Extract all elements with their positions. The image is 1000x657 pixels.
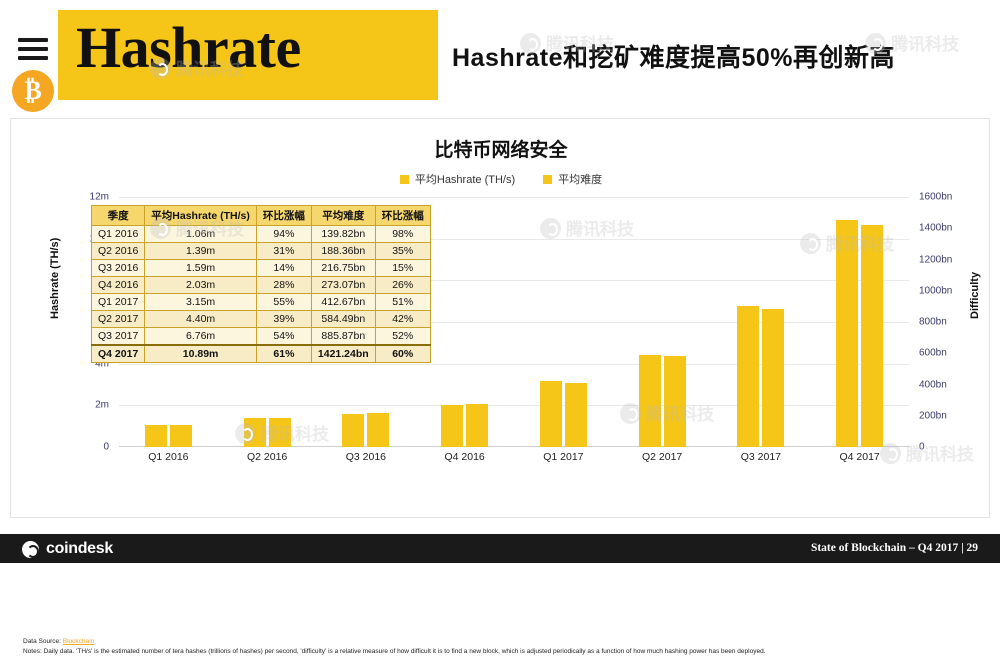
table-cell: 94% bbox=[256, 226, 311, 243]
bar-hashrate bbox=[342, 414, 364, 447]
bar-difficulty bbox=[565, 383, 587, 447]
table-cell: 1421.24bn bbox=[311, 345, 375, 363]
chart-legend: 平均Hashrate (TH/s) 平均难度 bbox=[11, 171, 991, 187]
coindesk-mark-icon bbox=[22, 541, 39, 558]
table-row: Q3 20176.76m54%885.87bn52% bbox=[92, 328, 431, 346]
x-axis-tick: Q2 2017 bbox=[613, 451, 712, 463]
bar-group bbox=[514, 197, 613, 447]
table-cell: 412.67bn bbox=[311, 294, 375, 311]
y-axis-right-tick: 800bn bbox=[919, 317, 947, 328]
table-row: Q4 201710.89m61%1421.24bn60% bbox=[92, 345, 431, 363]
footer-meta: State of Blockchain – Q4 2017 | 29 bbox=[811, 542, 978, 554]
table-row: Q2 20174.40m39%584.49bn42% bbox=[92, 311, 431, 328]
table-cell: 188.36bn bbox=[311, 243, 375, 260]
table-cell: 1.39m bbox=[145, 243, 257, 260]
table-row: Q1 20173.15m55%412.67bn51% bbox=[92, 294, 431, 311]
table-cell: 584.49bn bbox=[311, 311, 375, 328]
table-cell: 4.40m bbox=[145, 311, 257, 328]
data-source-link[interactable]: Blockchain bbox=[63, 638, 94, 645]
table-header-row: 季度 平均Hashrate (TH/s) 环比涨幅 平均难度 环比涨幅 bbox=[92, 206, 431, 226]
table-row: Q2 20161.39m31%188.36bn35% bbox=[92, 243, 431, 260]
bar-difficulty bbox=[170, 425, 192, 447]
bar-difficulty bbox=[762, 309, 784, 447]
y-axis-right-tick: 1000bn bbox=[919, 285, 952, 296]
x-axis-tick: Q4 2016 bbox=[415, 451, 514, 463]
table-body: Q1 20161.06m94%139.82bn98%Q2 20161.39m31… bbox=[92, 226, 431, 363]
table-cell: 15% bbox=[375, 260, 430, 277]
slide-body: 比特币网络安全 平均Hashrate (TH/s) 平均难度 Hashrate … bbox=[10, 118, 990, 518]
hamburger-icon[interactable] bbox=[18, 38, 48, 60]
bar-group bbox=[810, 197, 909, 447]
x-axis-tick: Q4 2017 bbox=[810, 451, 909, 463]
table-col-hashrate-growth: 环比涨幅 bbox=[256, 206, 311, 226]
table-cell: 60% bbox=[375, 345, 430, 363]
table-cell: 39% bbox=[256, 311, 311, 328]
table-cell: 54% bbox=[256, 328, 311, 346]
table-cell: 35% bbox=[375, 243, 430, 260]
table-col-difficulty: 平均难度 bbox=[311, 206, 375, 226]
table-row: Q3 20161.59m14%216.75bn15% bbox=[92, 260, 431, 277]
y-axis-left-tick: 2m bbox=[95, 400, 109, 411]
legend-item-difficulty: 平均难度 bbox=[543, 171, 602, 187]
table-row: Q4 20162.03m28%273.07bn26% bbox=[92, 277, 431, 294]
table-cell: 2.03m bbox=[145, 277, 257, 294]
y-axis-left-title: Hashrate (TH/s) bbox=[49, 238, 61, 319]
summary-table: 季度 平均Hashrate (TH/s) 环比涨幅 平均难度 环比涨幅 Q1 2… bbox=[91, 205, 431, 363]
page-title: Hashrate bbox=[76, 14, 301, 81]
bar-hashrate bbox=[639, 355, 661, 447]
table-cell: 28% bbox=[256, 277, 311, 294]
y-axis-left-tick: 0 bbox=[103, 442, 109, 453]
data-source-line: Data Source: Blockchain bbox=[23, 637, 999, 647]
table-cell: Q3 2017 bbox=[92, 328, 145, 346]
bar-difficulty bbox=[367, 413, 389, 447]
y-axis-right-tick: 1200bn bbox=[919, 254, 952, 265]
slide-header: ₿ Hashrate Hashrate和挖矿难度提高50%再创新高 bbox=[0, 0, 1000, 112]
table-col-hashrate: 平均Hashrate (TH/s) bbox=[145, 206, 257, 226]
bar-hashrate bbox=[441, 405, 463, 447]
y-axis-right-tick: 1400bn bbox=[919, 223, 952, 234]
bar-hashrate bbox=[540, 381, 562, 447]
table-cell: 1.59m bbox=[145, 260, 257, 277]
bar-difficulty bbox=[861, 225, 883, 447]
page-subtitle: Hashrate和挖矿难度提高50%再创新高 bbox=[452, 38, 895, 74]
table-cell: 52% bbox=[375, 328, 430, 346]
legend-swatch-hashrate bbox=[400, 175, 409, 184]
y-axis-right-tick: 0 bbox=[919, 442, 925, 453]
bar-hashrate bbox=[244, 418, 266, 447]
legend-label-difficulty: 平均难度 bbox=[558, 171, 602, 187]
chart-footnotes: Data Source: Blockchain Notes: Daily dat… bbox=[23, 637, 999, 657]
table-cell: 273.07bn bbox=[311, 277, 375, 294]
slide-footer: coindesk State of Blockchain – Q4 2017 |… bbox=[0, 534, 1000, 563]
table-cell: 61% bbox=[256, 345, 311, 363]
table-cell: 55% bbox=[256, 294, 311, 311]
bar-hashrate bbox=[836, 220, 858, 447]
bar-hashrate bbox=[737, 306, 759, 447]
x-axis-tick: Q2 2016 bbox=[218, 451, 317, 463]
x-axis-tick: Q3 2017 bbox=[712, 451, 811, 463]
table-cell: 98% bbox=[375, 226, 430, 243]
table-cell: 31% bbox=[256, 243, 311, 260]
table-cell: Q2 2017 bbox=[92, 311, 145, 328]
table-cell: 1.06m bbox=[145, 226, 257, 243]
table-cell: 216.75bn bbox=[311, 260, 375, 277]
table-cell: 6.76m bbox=[145, 328, 257, 346]
table-cell: 10.89m bbox=[145, 345, 257, 363]
bar-difficulty bbox=[269, 418, 291, 447]
chart-title: 比特币网络安全 bbox=[11, 135, 991, 162]
table-cell: 139.82bn bbox=[311, 226, 375, 243]
y-axis-right-tick: 600bn bbox=[919, 348, 947, 359]
bar-group bbox=[712, 197, 811, 447]
table-row: Q1 20161.06m94%139.82bn98% bbox=[92, 226, 431, 243]
y-axis-left-tick: 12m bbox=[90, 192, 109, 203]
table-cell: 885.87bn bbox=[311, 328, 375, 346]
bar-group bbox=[613, 197, 712, 447]
table-cell: 51% bbox=[375, 294, 430, 311]
legend-swatch-difficulty bbox=[543, 175, 552, 184]
table-cell: Q4 2016 bbox=[92, 277, 145, 294]
y-axis-right-tick: 200bn bbox=[919, 410, 947, 421]
x-axis-tick: Q3 2016 bbox=[317, 451, 416, 463]
table-col-quarter: 季度 bbox=[92, 206, 145, 226]
bar-difficulty bbox=[664, 356, 686, 447]
table-cell: Q1 2016 bbox=[92, 226, 145, 243]
legend-label-hashrate: 平均Hashrate (TH/s) bbox=[415, 171, 515, 187]
table-cell: 14% bbox=[256, 260, 311, 277]
y-axis-right-title: Difficulty bbox=[969, 272, 981, 319]
data-source-label: Data Source: bbox=[23, 638, 61, 645]
table-cell: 3.15m bbox=[145, 294, 257, 311]
table-cell: Q2 2016 bbox=[92, 243, 145, 260]
table-cell: Q3 2016 bbox=[92, 260, 145, 277]
notes-line: Notes: Daily data. 'TH/s' is the estimat… bbox=[23, 647, 999, 657]
table-col-difficulty-growth: 环比涨幅 bbox=[375, 206, 430, 226]
legend-item-hashrate: 平均Hashrate (TH/s) bbox=[400, 171, 515, 187]
y-axis-right-tick: 400bn bbox=[919, 379, 947, 390]
coindesk-wordmark: coindesk bbox=[46, 540, 113, 558]
table-cell: 26% bbox=[375, 277, 430, 294]
x-axis-tick: Q1 2017 bbox=[514, 451, 613, 463]
table-cell: Q1 2017 bbox=[92, 294, 145, 311]
x-axis-tick: Q1 2016 bbox=[119, 451, 218, 463]
coindesk-logo: coindesk bbox=[22, 540, 113, 558]
table-cell: Q4 2017 bbox=[92, 345, 145, 363]
bitcoin-icon: ₿ bbox=[12, 70, 54, 112]
bar-difficulty bbox=[466, 404, 488, 447]
table-cell: 42% bbox=[375, 311, 430, 328]
y-axis-right-tick: 1600bn bbox=[919, 192, 952, 203]
bar-hashrate bbox=[145, 425, 167, 447]
